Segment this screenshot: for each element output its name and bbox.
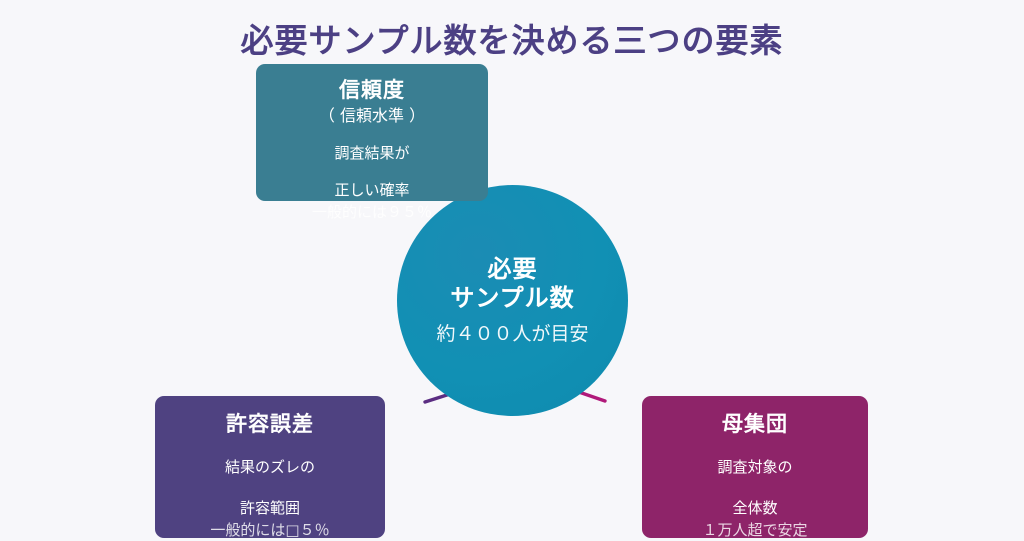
diagram-canvas: 必要サンプル数を決める三つの要素 信頼度 （ 信頼水準 ） 調査結果が 正しい確… xyxy=(0,0,1024,538)
card-title-margin-of-error: 許容誤差 xyxy=(226,412,314,437)
center-label-line2: サンプル数 xyxy=(450,284,574,312)
card-title-population: 母集団 xyxy=(722,412,788,437)
center-note: 約４００人が目安 xyxy=(436,319,588,346)
card-desc-line2-margin-of-error: 許容範囲 xyxy=(240,498,300,519)
page-title: 必要サンプル数を決める三つの要素 xyxy=(0,14,1024,62)
center-label-line1: 必要 xyxy=(488,255,538,283)
card-desc-line2-confidence: 正しい確率 xyxy=(334,180,409,201)
factor-card-margin-of-error[interactable]: 許容誤差 結果のズレの 許容範囲 一般的には□５％ xyxy=(155,396,385,538)
card-subtitle-confidence: （ 信頼水準 ） xyxy=(319,106,425,127)
card-title-confidence: 信頼度 xyxy=(339,78,405,103)
card-desc-line1-population: 調査対象の xyxy=(717,457,792,478)
card-desc-line1-confidence: 調査結果が xyxy=(334,143,409,164)
card-desc-line1-margin-of-error: 結果のズレの xyxy=(225,457,315,478)
factor-card-population[interactable]: 母集団 調査対象の 全体数 １万人超で安定 xyxy=(642,396,868,538)
factor-card-confidence[interactable]: 信頼度 （ 信頼水準 ） 調査結果が 正しい確率 一般的には９５％ xyxy=(256,64,488,201)
card-note-confidence: 一般的には９５％ xyxy=(312,202,432,223)
card-desc-line2-population: 全体数 xyxy=(732,498,777,519)
